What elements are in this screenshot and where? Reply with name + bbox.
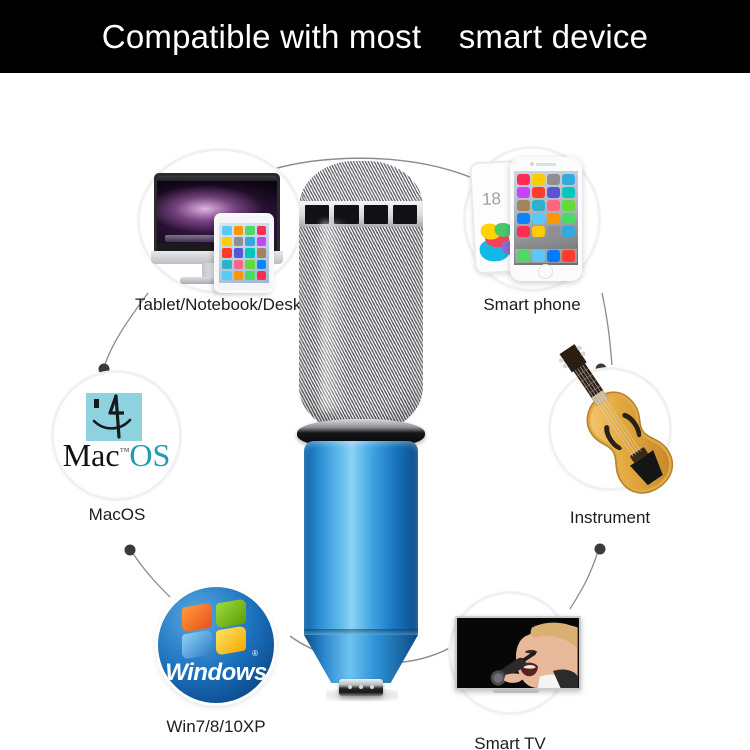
app-icon (222, 237, 232, 246)
dock-icon (547, 250, 560, 262)
tablet-icon (214, 213, 274, 293)
microphone-head-highlight (321, 221, 347, 411)
node-tv[interactable]: Smart TV (451, 594, 601, 750)
microphone-shadow (326, 689, 398, 701)
app-icon (562, 187, 575, 198)
app-icon (532, 213, 545, 224)
app-icon (517, 174, 530, 185)
app-icon (257, 226, 267, 235)
app-icon (517, 187, 530, 198)
app-icon (257, 237, 267, 246)
app-icon (222, 271, 232, 280)
phone-speaker (536, 163, 556, 166)
tv-circle (451, 594, 569, 712)
microphone-base-cone (304, 635, 418, 683)
app-icon (517, 213, 530, 224)
windows-circle: ® Windows (152, 583, 280, 708)
node-windows[interactable]: ® Windows Win7/8/10XP (152, 583, 302, 750)
macos-face-glyph (86, 393, 142, 441)
macos-wordmark: Mac™OS (54, 439, 179, 471)
label-windows: Win7/8/10XP (134, 717, 298, 737)
app-icon (517, 226, 530, 237)
tv-screen-content (457, 618, 579, 688)
computers-circle (140, 151, 300, 291)
node-guitar[interactable]: Instrument (551, 370, 701, 530)
app-icon (547, 200, 560, 211)
app-icon (245, 248, 255, 257)
flag-pane-blue (182, 629, 212, 659)
flag-pane-green (216, 598, 246, 628)
label-phone: Smart phone (451, 295, 613, 315)
app-icon (517, 200, 530, 211)
app-icon (222, 260, 232, 269)
header-banner: Compatible with most smart device (0, 0, 750, 73)
app-icon (257, 248, 267, 257)
microphone-slot (364, 205, 388, 224)
label-guitar: Instrument (535, 508, 685, 528)
app-icon (547, 213, 560, 224)
app-icon (234, 237, 244, 246)
phone-front-device (510, 157, 582, 281)
microphone-body-seam (304, 629, 418, 636)
tv-stand (493, 689, 539, 693)
app-icon (245, 237, 255, 246)
connector-dot-tv (595, 544, 606, 555)
television-icon (455, 616, 581, 690)
app-icon (234, 260, 244, 269)
microphone-body (304, 441, 418, 639)
phone-home-button-icon (538, 264, 553, 279)
windows-logo-icon: ® Windows (158, 587, 274, 703)
app-icon (562, 226, 575, 237)
app-icon (547, 187, 560, 198)
app-icon (222, 226, 232, 235)
app-icon (547, 226, 560, 237)
connector-dot-windows (125, 545, 136, 556)
app-icon (532, 200, 545, 211)
app-icon (234, 271, 244, 280)
flag-pane-orange (182, 602, 212, 632)
microphone-grille-head (299, 161, 423, 433)
app-icon (234, 248, 244, 257)
condenser-microphone[interactable] (286, 161, 436, 706)
page-title: Compatible with most smart device (0, 0, 750, 73)
app-icon (245, 260, 255, 269)
dock-icon (562, 250, 575, 262)
macos-circle: Mac™OS (54, 373, 179, 498)
app-icon (532, 226, 545, 237)
app-icon (562, 174, 575, 185)
phone-back-number: 18 (482, 189, 502, 210)
tablet-app-grid (219, 223, 269, 283)
product-feature-image: Compatible with most smart device (0, 0, 750, 750)
app-icon (532, 187, 545, 198)
app-icon (532, 174, 545, 185)
app-icon (234, 226, 244, 235)
app-icon (257, 271, 267, 280)
diagram-stage: Tablet/Notebook/Desktop 18 (0, 73, 750, 750)
dock-icon (517, 250, 530, 262)
app-icon (245, 271, 255, 280)
app-icon (562, 213, 575, 224)
phone-camera-icon (530, 162, 534, 166)
node-macos[interactable]: Mac™OS MacOS (54, 373, 204, 543)
node-phone[interactable]: 18 Smart phone (466, 149, 616, 329)
microphone-slot-band (299, 201, 423, 227)
dock-icon (532, 250, 545, 262)
windows-wordmark: Windows (158, 659, 274, 687)
macos-happy-face-icon (86, 393, 142, 441)
app-icon (562, 200, 575, 211)
app-icon (257, 260, 267, 269)
app-icon (245, 226, 255, 235)
label-tv: Smart TV (435, 734, 585, 750)
windows-flag (182, 601, 250, 659)
guitar-circle (551, 370, 669, 488)
microphone-slot (393, 205, 417, 224)
phone-dock (515, 249, 577, 263)
phone-circle: 18 (466, 149, 598, 289)
app-icon (222, 248, 232, 257)
windows-registered-mark: ® (252, 649, 258, 658)
app-icon (547, 174, 560, 185)
archtop-guitar-icon (547, 342, 707, 502)
label-macos: MacOS (42, 505, 192, 525)
flag-pane-yellow (216, 625, 246, 655)
